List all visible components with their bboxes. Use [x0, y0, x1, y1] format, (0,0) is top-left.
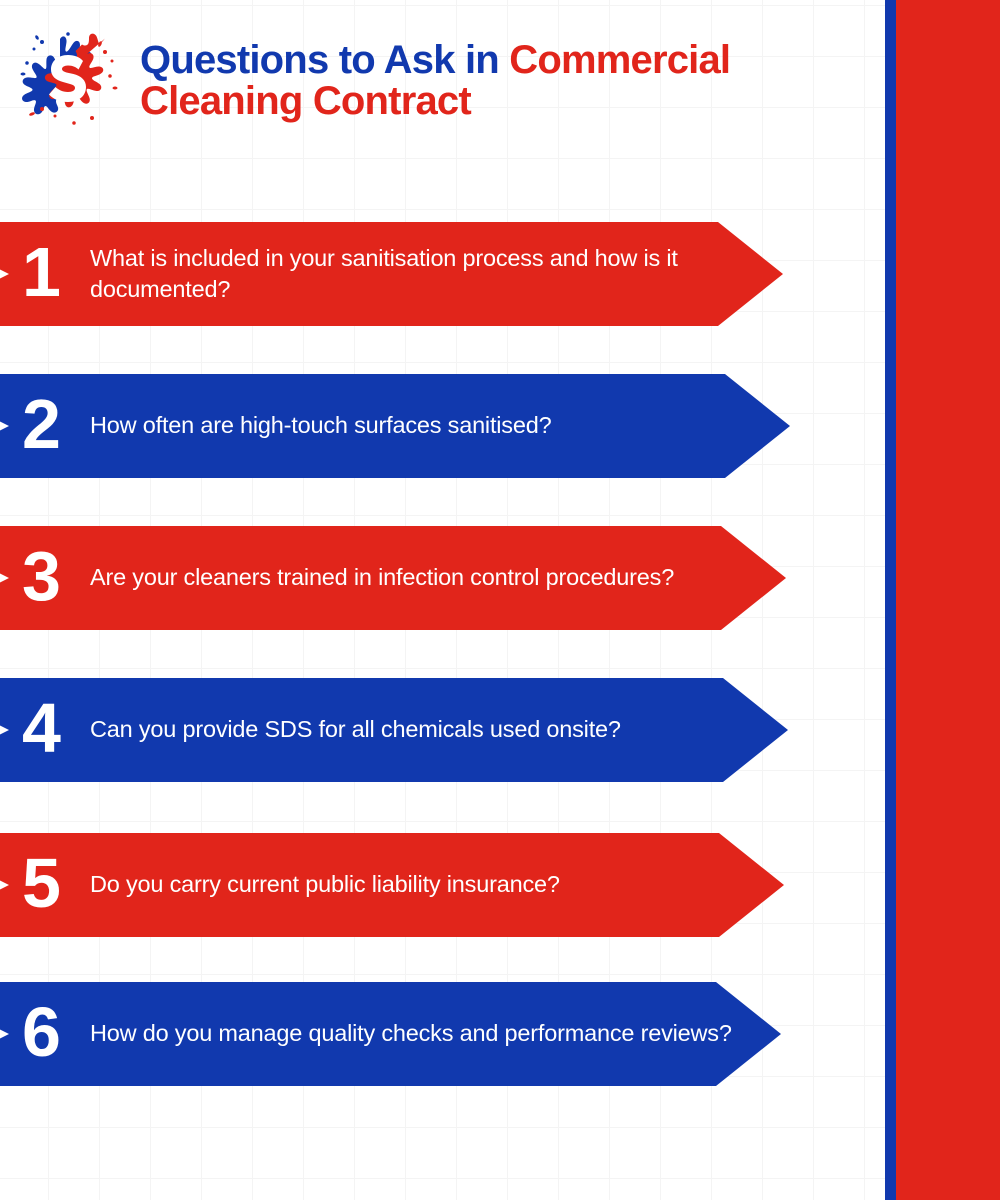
page-title-part-blue: Questions to Ask in: [140, 38, 509, 82]
arrow-banner: 4 Can you provide SDS for all chemicals …: [0, 678, 788, 782]
page-title-part-red-2: Cleaning Contract: [140, 79, 471, 123]
item-text: Do you carry current public liability in…: [90, 869, 784, 900]
item-text: How do you manage quality checks and per…: [90, 1018, 781, 1049]
arrow-banner: 3 Are your cleaners trained in infection…: [0, 526, 786, 630]
item-text: What is included in your sanitisation pr…: [90, 243, 783, 305]
item-number: 3: [22, 541, 90, 615]
item-text: How often are high-touch surfaces saniti…: [90, 410, 790, 441]
arrow-banner: 1 What is included in your sanitisation …: [0, 222, 783, 326]
item-number: 1: [22, 237, 90, 311]
item-number: 5: [22, 848, 90, 922]
arrow-banner: 6 How do you manage quality checks and p…: [0, 982, 781, 1086]
edge-red-panel: [896, 0, 1000, 1200]
arrow-banner: 2 How often are high-touch surfaces sani…: [0, 374, 790, 478]
item-number: 4: [22, 693, 90, 767]
infographic-page: Questions to Ask in Commercial Cleaning …: [0, 0, 1000, 1200]
item-number: 2: [22, 389, 90, 463]
item-text: Can you provide SDS for all chemicals us…: [90, 714, 788, 745]
edge-blue-stripe: [885, 0, 896, 1200]
page-title-part-red-1: Commercial: [509, 38, 730, 82]
item-text: Are your cleaners trained in infection c…: [90, 562, 786, 593]
item-number: 6: [22, 997, 90, 1071]
page-title: Questions to Ask in Commercial Cleaning …: [140, 40, 730, 122]
ink-splatter-s-logo-icon: [12, 30, 122, 130]
arrow-banner: 5 Do you carry current public liability …: [0, 833, 784, 937]
header: Questions to Ask in Commercial Cleaning …: [0, 28, 860, 148]
